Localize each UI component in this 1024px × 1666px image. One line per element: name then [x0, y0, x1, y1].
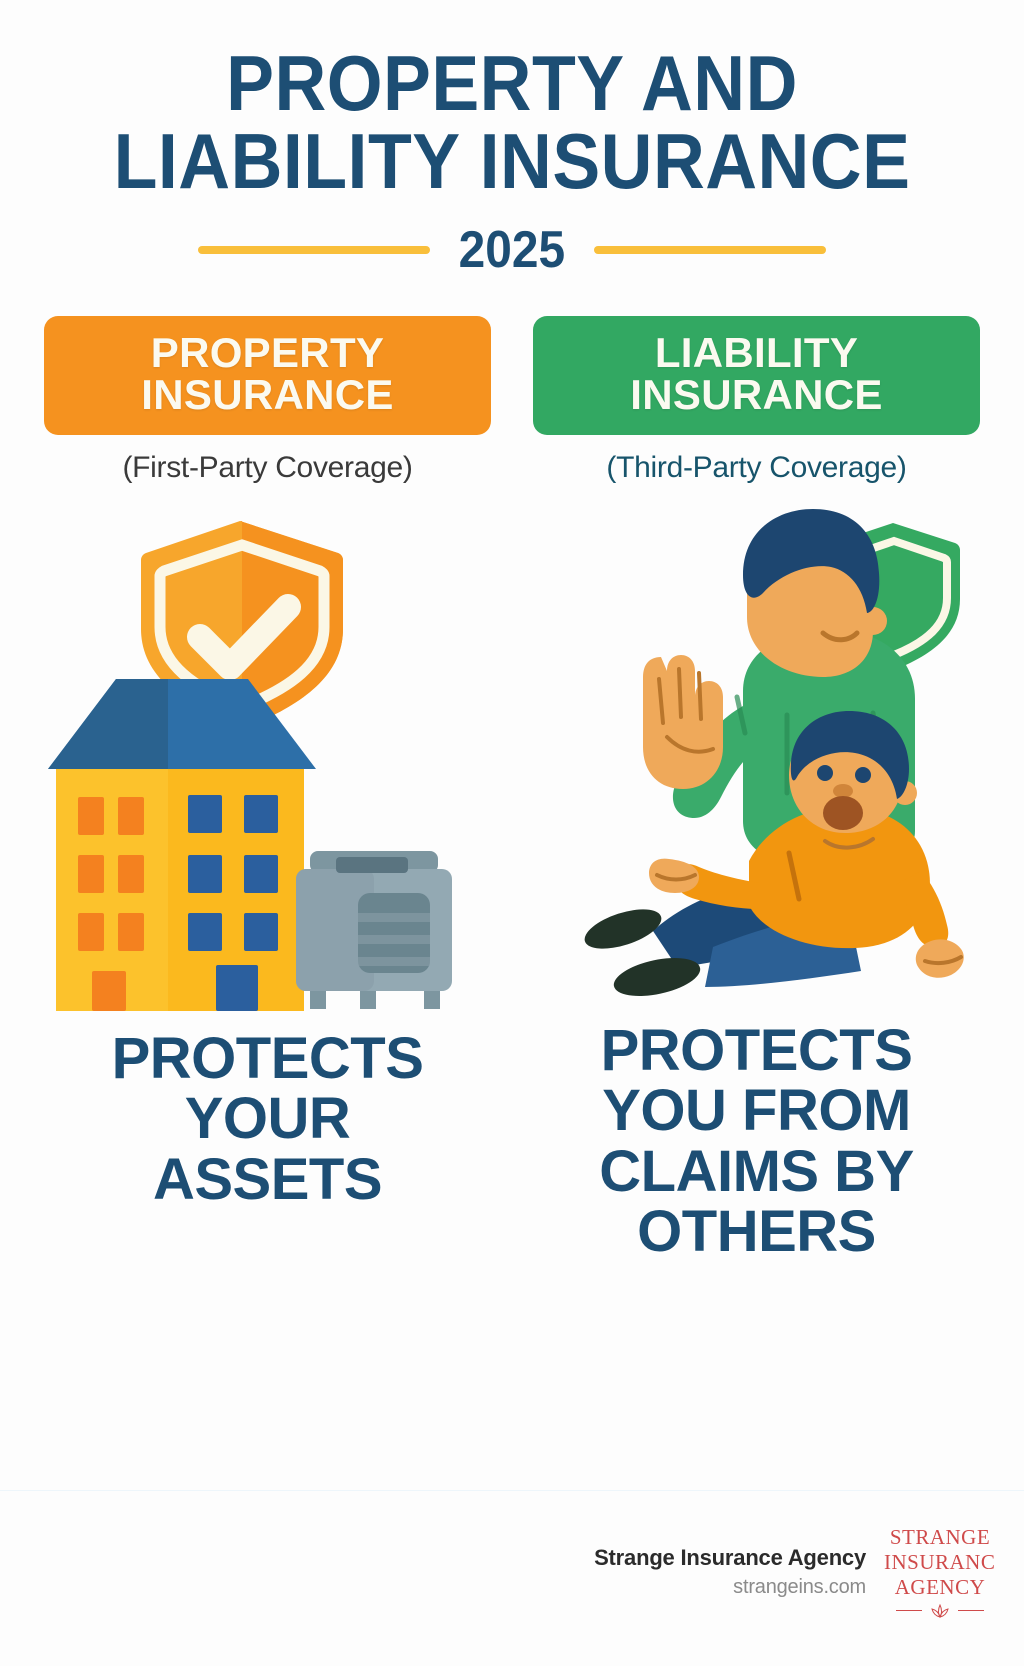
caption-liability-line-1: PROTECTS	[599, 1021, 914, 1081]
illustration-property	[48, 501, 488, 1011]
raised-hand-icon	[643, 655, 723, 789]
agency-logo: STRANGE INSURANCE AGENCY	[884, 1525, 996, 1617]
house-icon	[48, 679, 316, 1011]
machine-unit-icon	[296, 851, 452, 1009]
caption-property: PROTECTS YOUR ASSETS	[112, 1029, 424, 1210]
agency-name: Strange Insurance Agency	[594, 1545, 866, 1571]
page-title-line-2: LIABILITY INSURANCE	[41, 126, 983, 198]
year-rule-left	[198, 246, 430, 254]
badge-property-line-2: INSURANCE	[54, 374, 481, 417]
lotus-flower-icon	[929, 1604, 951, 1618]
footer: Strange Insurance Agency strangeins.com …	[0, 1490, 1024, 1666]
badge-liability-line-2: INSURANCE	[543, 374, 970, 417]
year-label: 2025	[459, 220, 565, 280]
badge-liability-line-1: LIABILITY	[543, 332, 970, 375]
page-title-line-1: PROPERTY AND	[41, 48, 983, 120]
badge-liability-insurance: LIABILITY INSURANCE	[533, 316, 980, 436]
column-property: PROPERTY INSURANCE (First-Party Coverage…	[44, 316, 491, 1263]
infographic-poster: PROPERTY AND LIABILITY INSURANCE 2025 PR…	[0, 0, 1024, 1666]
year-rule-right	[594, 246, 826, 254]
badge-property-line-1: PROPERTY	[54, 332, 481, 375]
logo-line-3: AGENCY	[884, 1575, 996, 1600]
logo-rule-right	[958, 1610, 984, 1611]
comparison-columns: PROPERTY INSURANCE (First-Party Coverage…	[0, 316, 1024, 1263]
caption-liability-line-4: OTHERS	[599, 1202, 914, 1262]
logo-ornament-row	[884, 1604, 996, 1618]
logo-line-2: INSURANCE	[884, 1550, 996, 1575]
logo-rule-left	[896, 1610, 922, 1611]
footer-text-block: Strange Insurance Agency strangeins.com	[594, 1545, 866, 1599]
caption-liability: PROTECTS YOU FROM CLAIMS BY OTHERS	[599, 1021, 914, 1262]
subcaption-first-party: (First-Party Coverage)	[122, 451, 412, 485]
subcaption-third-party: (Third-Party Coverage)	[606, 451, 906, 485]
agency-website[interactable]: strangeins.com	[594, 1576, 866, 1599]
title-block: PROPERTY AND LIABILITY INSURANCE 2025	[0, 0, 1024, 280]
illustration-liability	[537, 501, 977, 1011]
caption-property-line-1: PROTECTS	[112, 1029, 424, 1089]
caption-liability-line-3: CLAIMS BY	[599, 1142, 914, 1202]
logo-line-1: STRANGE	[884, 1525, 996, 1550]
caption-liability-line-2: YOU FROM	[599, 1081, 914, 1141]
badge-property-insurance: PROPERTY INSURANCE	[44, 316, 491, 436]
caption-property-line-3: ASSETS	[112, 1150, 424, 1210]
year-row: 2025	[0, 220, 1024, 280]
caption-property-line-2: YOUR	[112, 1089, 424, 1149]
column-liability: LIABILITY INSURANCE (Third-Party Coverag…	[533, 316, 980, 1263]
